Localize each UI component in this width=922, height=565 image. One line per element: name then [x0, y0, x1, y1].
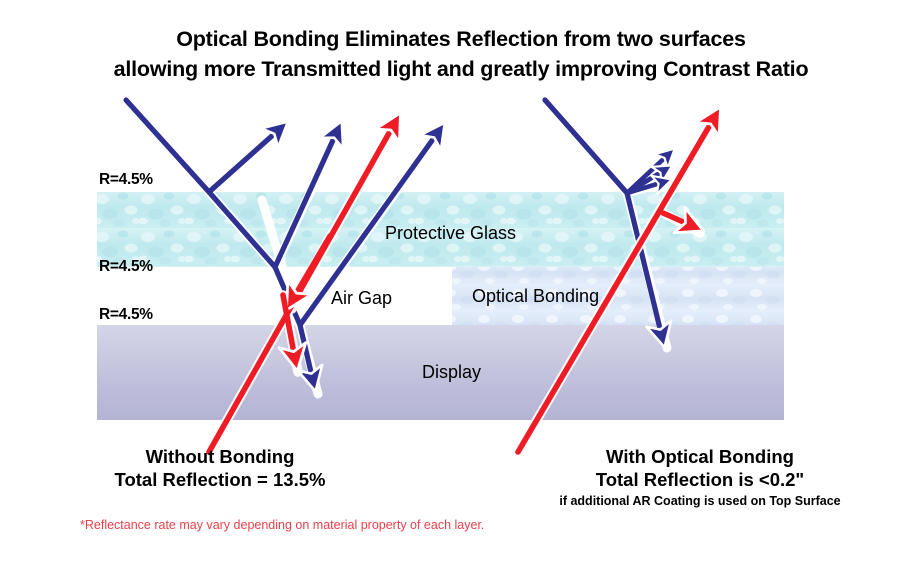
diagram-canvas: Optical Bonding Eliminates Reflection fr…	[0, 0, 922, 565]
caption-with-bonding-line-1: With Optical Bonding	[565, 445, 835, 468]
reflectance-label-glass-top: R=4.5%	[99, 171, 153, 189]
label-protective-glass: Protective Glass	[385, 223, 516, 244]
label-air-gap: Air Gap	[331, 288, 392, 309]
caption-with-bonding: With Optical Bonding Total Reflection is…	[565, 445, 835, 491]
caption-without-bonding-line-2: Total Reflection = 13.5%	[95, 468, 345, 491]
caption-with-bonding-line-2: Total Reflection is <0.2"	[565, 468, 835, 491]
label-display: Display	[422, 362, 481, 383]
caption-without-bonding-line-1: Without Bonding	[95, 445, 345, 468]
caption-with-bonding-subnote: if additional AR Coating is used on Top …	[545, 494, 855, 508]
footnote-reflectance-disclaimer: *Reflectance rate may vary depending on …	[80, 518, 484, 532]
ray-reflection-glass-top-left	[209, 126, 283, 192]
ray-incident-right	[545, 100, 627, 193]
reflectance-label-display-top: R=4.5%	[99, 306, 153, 324]
caption-without-bonding: Without Bonding Total Reflection = 13.5%	[95, 445, 345, 491]
label-optical-bonding: Optical Bonding	[472, 286, 599, 307]
reflectance-label-glass-bottom: R=4.5%	[99, 258, 153, 276]
